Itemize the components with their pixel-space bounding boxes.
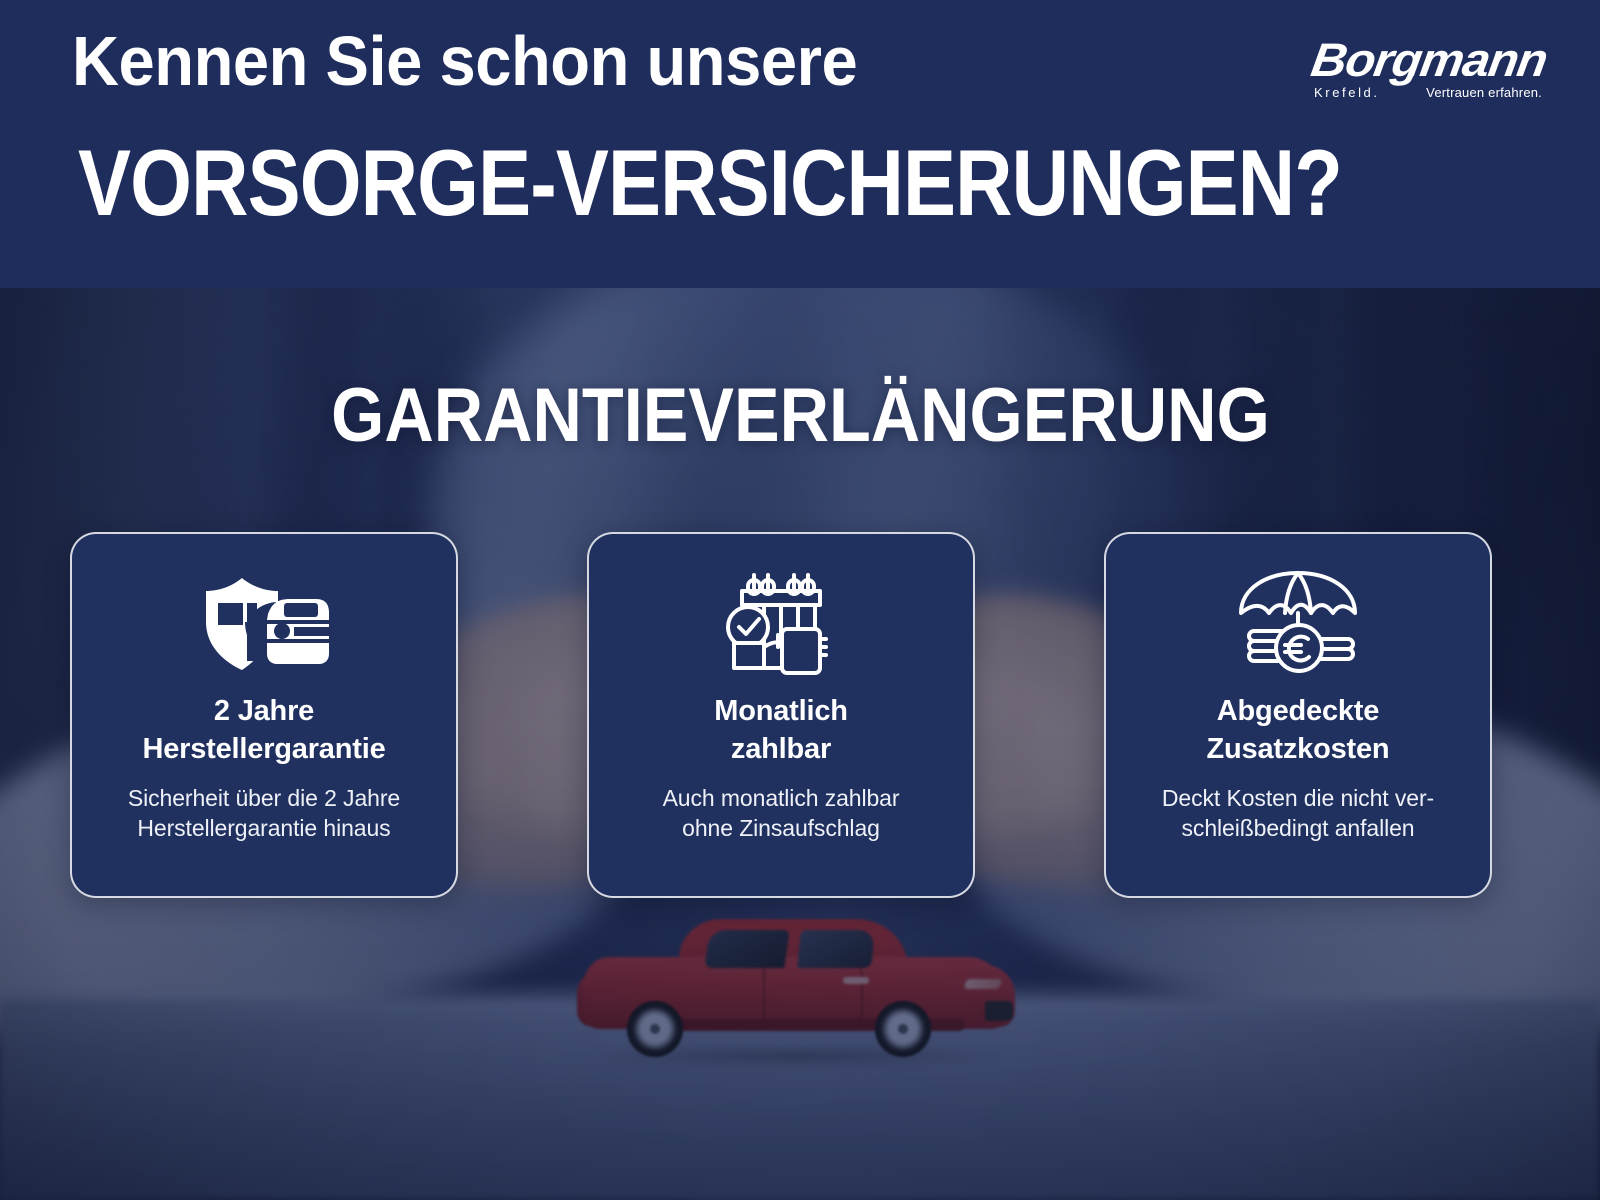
- feature-card-desc-line1: Deckt Kosten die nicht ver-: [1162, 785, 1434, 811]
- poster-root: Kennen Sie schon unsere VORSORGE-VERSICH…: [0, 0, 1600, 1200]
- feature-card-title-line1: Monatlich: [714, 695, 848, 727]
- headline-line-1: Kennen Sie schon unsere: [72, 26, 857, 97]
- feature-card-desc-line2: schleißbedingt anfallen: [1182, 815, 1415, 841]
- feature-card-title: Abgedeckte Zusatzkosten: [1207, 692, 1390, 769]
- feature-card-title: 2 Jahre Herstellergarantie: [142, 692, 385, 769]
- borgmann-logo[interactable]: Borgmann Krefeld. Vertrauen erfahren.: [1312, 36, 1542, 110]
- feature-card-desc-line2: Herstellergarantie hinaus: [137, 815, 390, 841]
- feature-card-title-line2: zahlbar: [731, 733, 831, 765]
- feature-card-list: 2 Jahre Herstellergarantie Sicherheit üb…: [70, 532, 1492, 898]
- feature-card-title-line2: Zusatzkosten: [1207, 733, 1390, 765]
- calendar-check-payment-icon: [720, 564, 842, 684]
- feature-card-desc-line1: Sicherheit über die 2 Jahre: [128, 785, 400, 811]
- feature-card-description: Sicherheit über die 2 Jahre Herstellerga…: [128, 783, 400, 844]
- feature-card-desc-line1: Auch monatlich zahlbar: [663, 785, 900, 811]
- feature-card-warranty[interactable]: 2 Jahre Herstellergarantie Sicherheit üb…: [70, 532, 458, 898]
- feature-card-description: Auch monatlich zahlbar ohne Zinsaufschla…: [663, 783, 900, 844]
- headline-line-2: VORSORGE-VERSICHERUNGEN?: [78, 136, 1342, 230]
- feature-card-extra-costs[interactable]: Abgedeckte Zusatzkosten Deckt Kosten die…: [1104, 532, 1492, 898]
- logo-tagline-claim: Vertrauen erfahren.: [1426, 86, 1542, 99]
- feature-card-title-line1: 2 Jahre: [214, 695, 314, 727]
- page-title: GARANTIEVERLÄNGERUNG: [0, 378, 1600, 454]
- feature-card-title: Monatlich zahlbar: [714, 692, 848, 769]
- feature-card-description: Deckt Kosten die nicht ver- schleißbedin…: [1162, 783, 1434, 844]
- feature-card-title-line1: Abgedeckte: [1217, 695, 1379, 727]
- feature-card-title-line2: Herstellergarantie: [142, 733, 385, 765]
- page-title-text: GARANTIEVERLÄNGERUNG: [331, 378, 1270, 454]
- logo-tagline-city: Krefeld.: [1314, 86, 1380, 99]
- umbrella-euro-coins-icon: [1233, 564, 1363, 684]
- logo-tagline: Krefeld. Vertrauen erfahren.: [1314, 86, 1542, 99]
- shield-car-icon: [198, 564, 330, 684]
- feature-card-desc-line2: ohne Zinsaufschlag: [682, 815, 880, 841]
- feature-card-monthly-payment[interactable]: Monatlich zahlbar Auch monatlich zahlbar…: [587, 532, 975, 898]
